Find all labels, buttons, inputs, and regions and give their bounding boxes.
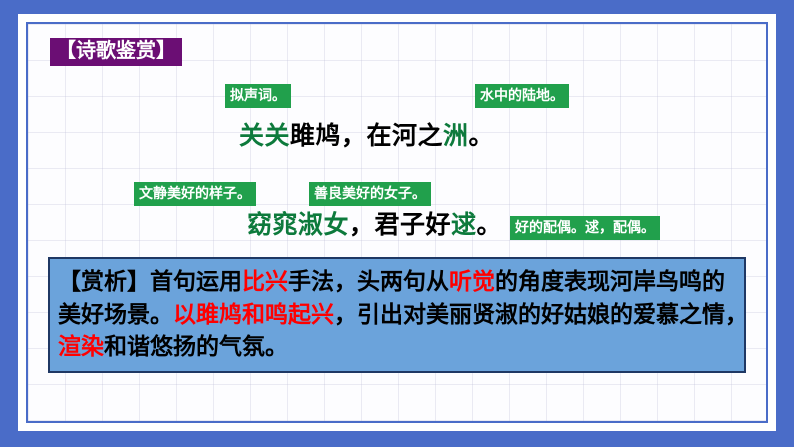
analysis-line-1-highlight-tingjue: 听觉 bbox=[449, 268, 495, 294]
analysis-line-1-seg-3: 手法，头两句从 bbox=[288, 268, 449, 294]
poem-line-2-seg-green-a: 窈窕淑女 bbox=[247, 211, 349, 239]
poem-line-2-seg-black-a: ，君子好 bbox=[349, 211, 451, 239]
annotation-chip-fair-lady: 善良美好的女子。 bbox=[309, 182, 431, 206]
page-title: 【诗歌鉴赏】 bbox=[50, 38, 182, 66]
analysis-line-2: 美好场景。以雎鸠和鸣起兴，引出对美丽贤淑的好姑娘的爱慕之情， bbox=[58, 298, 736, 331]
poem-line-1-seg-green-b: 洲 bbox=[443, 122, 469, 150]
analysis-panel: 【赏析】首句运用比兴手法，头两句从听觉的角度表现河岸鸟鸣的 美好场景。以雎鸠和鸣… bbox=[48, 257, 746, 373]
poem-line-1: 关关雎鸠，在河之洲。 bbox=[239, 121, 494, 151]
poem-line-1-seg-black-a: 雎鸠，在河之 bbox=[290, 122, 443, 150]
analysis-line-1-highlight-bixing: 比兴 bbox=[242, 268, 288, 294]
content-card: 【诗歌鉴赏】 拟声词。 水中的陆地。 关关雎鸠，在河之洲。 文静美好的样子。 善… bbox=[26, 22, 768, 423]
analysis-line-2-seg-1: 美好场景。 bbox=[58, 301, 173, 327]
analysis-line-1-seg-1: 【赏析】首句运用 bbox=[58, 268, 242, 294]
analysis-line-1: 【赏析】首句运用比兴手法，头两句从听觉的角度表现河岸鸟鸣的 bbox=[58, 265, 736, 298]
analysis-line-2-seg-3: ，引出对美丽贤淑的好姑娘的爱慕之情， bbox=[334, 301, 748, 327]
annotation-chip-demure: 文静美好的样子。 bbox=[134, 182, 256, 206]
slide-canvas: 【诗歌鉴赏】 拟声词。 水中的陆地。 关关雎鸠，在河之洲。 文静美好的样子。 善… bbox=[0, 0, 794, 447]
poem-line-1-seg-black-b: 。 bbox=[469, 122, 495, 150]
annotation-chip-good-mate: 好的配偶。逑，配偶。 bbox=[510, 216, 660, 240]
annotation-chip-onomatopoeia: 拟声词。 bbox=[225, 84, 291, 108]
poem-line-2-seg-green-b: 逑 bbox=[451, 211, 477, 239]
analysis-line-3: 渲染和谐悠扬的气氛。 bbox=[58, 330, 736, 363]
analysis-line-3-seg-2: 和谐悠扬的气氛。 bbox=[104, 333, 288, 359]
analysis-line-1-seg-5: 的角度表现河岸鸟鸣的 bbox=[495, 268, 725, 294]
annotation-chip-islet: 水中的陆地。 bbox=[475, 84, 569, 108]
analysis-line-3-highlight-xuanran: 渲染 bbox=[58, 333, 104, 359]
analysis-line-2-highlight-qixing: 以雎鸠和鸣起兴 bbox=[173, 301, 334, 327]
poem-line-2-seg-black-b: 。 bbox=[477, 211, 503, 239]
poem-line-2: 窈窕淑女，君子好逑。 bbox=[247, 210, 502, 240]
poem-line-1-seg-green-a: 关关 bbox=[239, 122, 290, 150]
